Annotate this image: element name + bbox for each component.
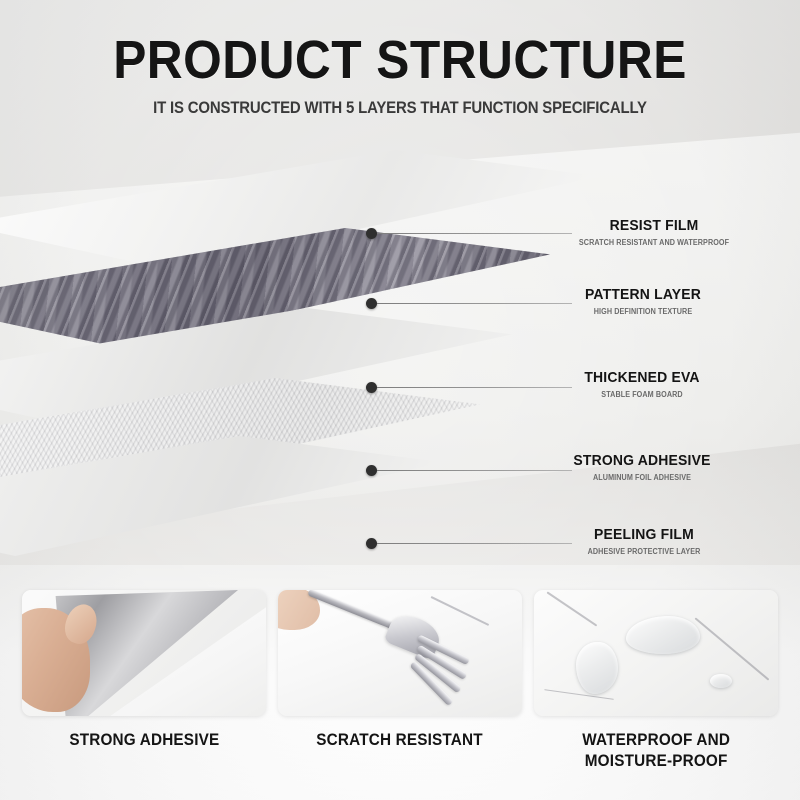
callout-text-block: THICKENED EVA STABLE FOAM BOARD: [580, 369, 704, 399]
callout-text-block: RESIST FILM SCRATCH RESISTANT AND WATERP…: [571, 217, 738, 247]
callout-subtitle: SCRATCH RESISTANT AND WATERPROOF: [579, 238, 729, 247]
callout-subtitle: STABLE FOAM BOARD: [586, 390, 698, 399]
callout-subtitle: ADHESIVE PROTECTIVE LAYER: [588, 547, 701, 556]
callout-leader-line: [377, 303, 572, 304]
callout-leader-line: [377, 387, 572, 388]
callout-group: RESIST FILM SCRATCH RESISTANT AND WATERP…: [0, 0, 800, 800]
callout-leader-line: [377, 543, 572, 544]
product-structure-infographic: PRODUCT STRUCTURE IT IS CONSTRUCTED WITH…: [0, 0, 800, 800]
callout-title: THICKENED EVA: [584, 369, 699, 386]
callout-dot-icon: [366, 465, 377, 476]
callout-title: STRONG ADHESIVE: [573, 452, 710, 469]
callout-dot-icon: [366, 382, 377, 393]
callout-subtitle: ALUMINUM FOIL ADHESIVE: [576, 473, 709, 482]
callout-title: PATTERN LAYER: [585, 286, 701, 303]
callout-text-block: PEELING FILM ADHESIVE PROTECTIVE LAYER: [581, 526, 706, 556]
callout-leader-line: [377, 470, 572, 471]
callout-title: PEELING FILM: [586, 526, 703, 543]
callout-text-block: STRONG ADHESIVE ALUMINUM FOIL ADHESIVE: [568, 452, 715, 482]
callout-dot-icon: [366, 298, 377, 309]
callout-text-block: PATTERN LAYER HIGH DEFINITION TEXTURE: [581, 286, 706, 316]
callout-dot-icon: [366, 538, 377, 549]
callout-dot-icon: [366, 228, 377, 239]
callout-leader-line: [377, 233, 572, 234]
callout-title: RESIST FILM: [576, 217, 731, 234]
callout-subtitle: HIGH DEFINITION TEXTURE: [587, 307, 699, 316]
